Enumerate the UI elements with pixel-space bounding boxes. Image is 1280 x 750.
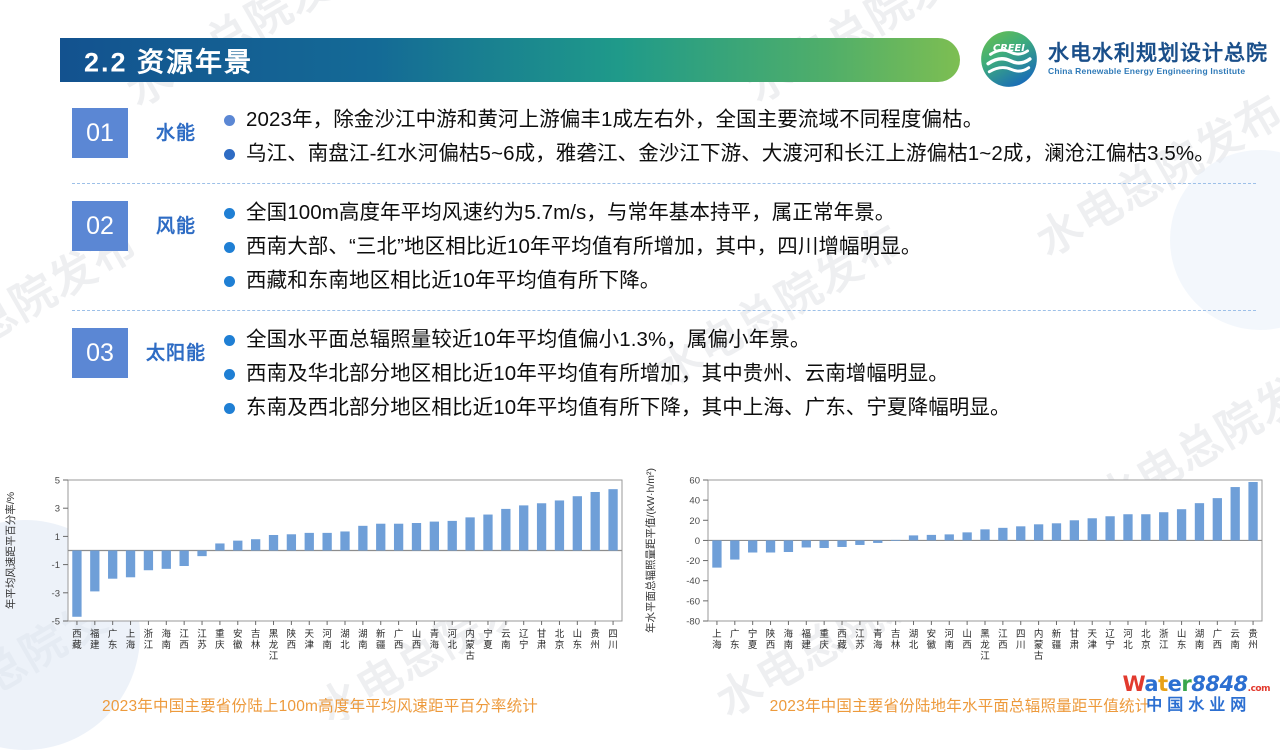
svg-text:蒙: 蒙 bbox=[465, 639, 475, 651]
water8848-subtitle: 中国水业网 bbox=[1122, 698, 1270, 714]
svg-text:江: 江 bbox=[980, 651, 990, 662]
list-item: 全国水平面总辐照量较近10年平均值偏小1.3%，属偏小年景。 bbox=[224, 324, 1256, 356]
svg-text:西: 西 bbox=[962, 640, 972, 651]
svg-text:西: 西 bbox=[766, 640, 776, 651]
svg-text:四: 四 bbox=[1016, 629, 1026, 640]
svg-text:-60: -60 bbox=[686, 596, 700, 607]
svg-text:湖: 湖 bbox=[340, 629, 350, 640]
svg-text:重: 重 bbox=[215, 628, 225, 640]
slide-header: 2.2 资源年景 CREEI 水电水利规划设计总院 China Renewabl… bbox=[0, 0, 1280, 96]
svg-text:5: 5 bbox=[55, 476, 60, 487]
bullet-text: 全国水平面总辐照量较近10年平均值偏小1.3%，属偏小年景。 bbox=[246, 324, 811, 356]
svg-text:西: 西 bbox=[179, 640, 189, 651]
svg-text:甘: 甘 bbox=[537, 628, 547, 640]
svg-text:-20: -20 bbox=[686, 556, 700, 567]
bullet-dot-icon bbox=[224, 369, 235, 380]
section-title: 风能 bbox=[128, 211, 224, 238]
svg-text:云: 云 bbox=[501, 629, 511, 640]
svg-text:津: 津 bbox=[1087, 640, 1097, 651]
svg-text:20: 20 bbox=[689, 516, 700, 527]
svg-text:苏: 苏 bbox=[855, 639, 865, 651]
bullet-text: 西藏和东南地区相比近10年平均值有所下降。 bbox=[246, 265, 660, 297]
svg-text:广: 广 bbox=[730, 628, 740, 640]
brand-letter: W bbox=[1122, 672, 1144, 696]
svg-text:古: 古 bbox=[465, 650, 475, 662]
svg-text:东: 东 bbox=[1177, 639, 1187, 651]
svg-text:西: 西 bbox=[287, 640, 297, 651]
svg-text:南: 南 bbox=[162, 639, 172, 651]
svg-text:南: 南 bbox=[945, 639, 955, 651]
svg-text:广: 广 bbox=[394, 628, 404, 640]
brand-letter: t bbox=[1158, 672, 1168, 696]
svg-text:山: 山 bbox=[962, 629, 972, 640]
bullet-dot-icon bbox=[224, 276, 235, 287]
svg-text:林: 林 bbox=[891, 639, 901, 651]
svg-text:福: 福 bbox=[802, 628, 812, 640]
svg-text:河: 河 bbox=[945, 628, 955, 640]
svg-text:建: 建 bbox=[90, 639, 100, 651]
svg-text:疆: 疆 bbox=[1052, 640, 1062, 651]
svg-text:浙: 浙 bbox=[1159, 628, 1169, 640]
svg-text:北: 北 bbox=[447, 640, 457, 651]
logo-en-name: China Renewable Energy Engineering Insti… bbox=[1048, 66, 1268, 76]
svg-text:吉: 吉 bbox=[251, 629, 261, 640]
svg-text:南: 南 bbox=[1230, 639, 1240, 651]
svg-text:安: 安 bbox=[233, 628, 243, 640]
svg-text:甘: 甘 bbox=[1070, 628, 1080, 640]
list-item: 西藏和东南地区相比近10年平均值有所下降。 bbox=[224, 265, 1256, 297]
svg-text:陕: 陕 bbox=[287, 628, 297, 640]
svg-text:州: 州 bbox=[1248, 640, 1258, 651]
creei-logo: CREEI 水电水利规划设计总院 China Renewable Energy … bbox=[980, 30, 1268, 88]
svg-text:江: 江 bbox=[179, 629, 189, 640]
bullet-text: 东南及西北部分地区相比近10年平均值有所下降，其中上海、广东、宁夏降幅明显。 bbox=[246, 392, 1011, 424]
svg-text:夏: 夏 bbox=[483, 640, 493, 651]
svg-text:庆: 庆 bbox=[215, 639, 225, 651]
svg-text:北: 北 bbox=[1123, 640, 1133, 651]
svg-text:天: 天 bbox=[1087, 629, 1097, 640]
svg-text:上: 上 bbox=[126, 629, 136, 640]
bullet-dot-icon bbox=[224, 115, 235, 126]
svg-text:黑: 黑 bbox=[269, 629, 279, 640]
svg-text:青: 青 bbox=[873, 628, 883, 640]
svg-text:古: 古 bbox=[1034, 650, 1044, 662]
svg-text:湖: 湖 bbox=[909, 629, 919, 640]
svg-text:西: 西 bbox=[1213, 640, 1223, 651]
svg-text:东: 东 bbox=[573, 639, 583, 651]
svg-text:海: 海 bbox=[162, 628, 172, 640]
svg-text:山: 山 bbox=[1177, 629, 1187, 640]
brand-number: 8848 bbox=[1191, 672, 1247, 696]
svg-text:内: 内 bbox=[465, 628, 475, 640]
svg-text:0: 0 bbox=[695, 536, 700, 547]
section-hydro: 01 水能 2023年，除金沙江中游和黄河上游偏丰1成左右外，全国主要流域不同程… bbox=[0, 96, 1280, 178]
section-number-badge: 01 bbox=[72, 108, 128, 158]
section-bullet-list: 全国水平面总辐照量较近10年平均值偏小1.3%，属偏小年景。 西南及华北部分地区… bbox=[224, 322, 1256, 426]
section-solar: 03 太阳能 全国水平面总辐照量较近10年平均值偏小1.3%，属偏小年景。 西南… bbox=[0, 316, 1280, 432]
svg-text:辽: 辽 bbox=[1105, 628, 1115, 640]
brand-letter: a bbox=[1144, 672, 1158, 696]
svg-text:-40: -40 bbox=[686, 576, 700, 587]
svg-text:州: 州 bbox=[590, 640, 600, 651]
list-item: 全国100m高度年平均风速约为5.7m/s，与常年基本持平，属正常年景。 bbox=[224, 197, 1256, 229]
svg-text:京: 京 bbox=[555, 639, 565, 651]
chart-canvas: 531-1-3-5西藏福建广东上海浙江海南江西江苏重庆安徽吉林黑龙江陕西天津河南… bbox=[0, 468, 640, 683]
svg-text:3: 3 bbox=[55, 504, 60, 515]
svg-text:河: 河 bbox=[322, 628, 332, 640]
svg-text:上: 上 bbox=[712, 629, 722, 640]
svg-text:重: 重 bbox=[819, 628, 829, 640]
svg-text:南: 南 bbox=[322, 639, 332, 651]
list-item: 西南及华北部分地区相比近10年平均值有所增加，其中贵州、云南增幅明显。 bbox=[224, 358, 1256, 390]
charts-row: 531-1-3-5西藏福建广东上海浙江海南江西江苏重庆安徽吉林黑龙江陕西天津河南… bbox=[0, 468, 1280, 720]
bullet-dot-icon bbox=[224, 242, 235, 253]
svg-text:夏: 夏 bbox=[748, 640, 758, 651]
svg-text:海: 海 bbox=[784, 628, 794, 640]
svg-text:海: 海 bbox=[430, 639, 440, 651]
svg-text:青: 青 bbox=[430, 628, 440, 640]
brand-letter: r bbox=[1181, 672, 1191, 696]
svg-text:江: 江 bbox=[269, 651, 279, 662]
svg-text:河: 河 bbox=[447, 628, 457, 640]
brand-letter: e bbox=[1168, 672, 1182, 696]
svg-text:天: 天 bbox=[305, 629, 315, 640]
svg-text:南: 南 bbox=[501, 639, 511, 651]
svg-text:江: 江 bbox=[197, 629, 207, 640]
svg-text:龙: 龙 bbox=[980, 639, 990, 651]
list-item: 乌江、南盘江-红水河偏枯5~6成，雅砻江、金沙江下游、大渡河和长江上游偏枯1~2… bbox=[224, 138, 1256, 170]
bullet-text: 2023年，除金沙江中游和黄河上游偏丰1成左右外，全国主要流域不同程度偏枯。 bbox=[246, 104, 983, 136]
content-sections: 01 水能 2023年，除金沙江中游和黄河上游偏丰1成左右外，全国主要流域不同程… bbox=[0, 96, 1280, 432]
svg-text:年平均风速距平百分率/%: 年平均风速距平百分率/% bbox=[4, 492, 17, 609]
bar-chart-svg: 531-1-3-5西藏福建广东上海浙江海南江西江苏重庆安徽吉林黑龙江陕西天津河南… bbox=[0, 468, 640, 683]
svg-text:海: 海 bbox=[712, 639, 722, 651]
section-bullet-list: 全国100m高度年平均风速约为5.7m/s，与常年基本持平，属正常年景。 西南大… bbox=[224, 195, 1256, 299]
section-title: 水能 bbox=[128, 118, 224, 145]
svg-text:北: 北 bbox=[340, 640, 350, 651]
svg-text:津: 津 bbox=[305, 640, 315, 651]
svg-text:建: 建 bbox=[802, 639, 812, 651]
svg-text:河: 河 bbox=[1123, 628, 1133, 640]
svg-text:1: 1 bbox=[55, 532, 60, 543]
list-item: 东南及西北部分地区相比近10年平均值有所下降，其中上海、广东、宁夏降幅明显。 bbox=[224, 392, 1256, 424]
water8848-watermark: Water8848.com 中国水业网 bbox=[1122, 674, 1270, 714]
svg-text:浙: 浙 bbox=[144, 628, 154, 640]
svg-text:徽: 徽 bbox=[927, 639, 937, 651]
svg-text:江: 江 bbox=[998, 629, 1008, 640]
svg-text:宁: 宁 bbox=[1105, 639, 1115, 651]
page-title: 2.2 资源年景 bbox=[84, 41, 253, 80]
svg-text:安: 安 bbox=[927, 628, 937, 640]
bullet-dot-icon bbox=[224, 149, 235, 160]
svg-text:东: 东 bbox=[108, 639, 118, 651]
svg-text:南: 南 bbox=[784, 639, 794, 651]
chart-canvas: 6040200-20-40-60-80上海广东宁夏陕西海南福建重庆西藏江苏青海吉… bbox=[640, 468, 1280, 683]
svg-text:西: 西 bbox=[394, 640, 404, 651]
svg-text:庆: 庆 bbox=[819, 639, 829, 651]
svg-text:湖: 湖 bbox=[1195, 629, 1205, 640]
bullet-dot-icon bbox=[224, 403, 235, 414]
svg-text:内: 内 bbox=[1034, 628, 1044, 640]
svg-text:龙: 龙 bbox=[269, 639, 279, 651]
bullet-dot-icon bbox=[224, 335, 235, 346]
svg-text:川: 川 bbox=[608, 640, 618, 651]
section-title: 太阳能 bbox=[128, 338, 224, 365]
list-item: 西南大部、“三北”地区相比近10年平均值有所增加，其中，四川增幅明显。 bbox=[224, 231, 1256, 263]
svg-text:福: 福 bbox=[90, 628, 100, 640]
svg-text:肃: 肃 bbox=[1070, 639, 1080, 651]
svg-text:辽: 辽 bbox=[519, 628, 529, 640]
svg-text:南: 南 bbox=[358, 639, 368, 651]
svg-text:川: 川 bbox=[1016, 640, 1026, 651]
svg-text:陕: 陕 bbox=[766, 628, 776, 640]
svg-text:徽: 徽 bbox=[233, 639, 243, 651]
svg-text:疆: 疆 bbox=[376, 640, 386, 651]
svg-text:黑: 黑 bbox=[980, 629, 990, 640]
svg-text:南: 南 bbox=[1195, 639, 1205, 651]
logo-cn-name: 水电水利规划设计总院 bbox=[1048, 42, 1268, 66]
svg-text:广: 广 bbox=[1213, 628, 1223, 640]
water8848-brand: Water8848.com bbox=[1122, 674, 1270, 695]
svg-text:京: 京 bbox=[1141, 639, 1151, 651]
svg-text:CREEI: CREEI bbox=[993, 43, 1025, 54]
svg-text:-5: -5 bbox=[52, 617, 60, 628]
svg-text:新: 新 bbox=[376, 628, 386, 640]
section-wind: 02 风能 全国100m高度年平均风速约为5.7m/s，与常年基本持平，属正常年… bbox=[0, 189, 1280, 305]
svg-text:宁: 宁 bbox=[748, 628, 758, 640]
svg-text:云: 云 bbox=[1230, 629, 1240, 640]
svg-text:山: 山 bbox=[573, 629, 583, 640]
title-bar: 2.2 资源年景 bbox=[60, 38, 960, 82]
svg-text:肃: 肃 bbox=[537, 639, 547, 651]
svg-text:40: 40 bbox=[689, 496, 700, 507]
svg-text:苏: 苏 bbox=[197, 639, 207, 651]
chart-wind-speed-anomaly: 531-1-3-5西藏福建广东上海浙江海南江西江苏重庆安徽吉林黑龙江陕西天津河南… bbox=[0, 468, 640, 720]
section-bullet-list: 2023年，除金沙江中游和黄河上游偏丰1成左右外，全国主要流域不同程度偏枯。 乌… bbox=[224, 102, 1256, 172]
svg-text:宁: 宁 bbox=[483, 628, 493, 640]
svg-text:蒙: 蒙 bbox=[1034, 639, 1044, 651]
bar-chart-svg: 6040200-20-40-60-80上海广东宁夏陕西海南福建重庆西藏江苏青海吉… bbox=[640, 468, 1280, 683]
svg-text:年水平面总辐照量距平值/(kW·h/m²): 年水平面总辐照量距平值/(kW·h/m²) bbox=[644, 468, 657, 633]
section-number-badge: 03 bbox=[72, 328, 128, 378]
brand-domain: .com bbox=[1248, 684, 1270, 694]
svg-text:江: 江 bbox=[144, 640, 154, 651]
svg-text:西: 西 bbox=[837, 629, 847, 640]
svg-text:北: 北 bbox=[1141, 629, 1151, 640]
bullet-text: 全国100m高度年平均风速约为5.7m/s，与常年基本持平，属正常年景。 bbox=[246, 197, 895, 229]
svg-text:藏: 藏 bbox=[837, 639, 847, 651]
section-number-badge: 02 bbox=[72, 201, 128, 251]
list-item: 2023年，除金沙江中游和黄河上游偏丰1成左右外，全国主要流域不同程度偏枯。 bbox=[224, 104, 1256, 136]
svg-text:西: 西 bbox=[998, 640, 1008, 651]
svg-text:江: 江 bbox=[855, 629, 865, 640]
svg-text:四: 四 bbox=[608, 629, 618, 640]
svg-text:西: 西 bbox=[412, 640, 422, 651]
svg-text:贵: 贵 bbox=[1248, 628, 1258, 640]
svg-text:宁: 宁 bbox=[519, 639, 529, 651]
svg-text:西: 西 bbox=[72, 629, 82, 640]
section-divider bbox=[72, 183, 1256, 184]
svg-text:新: 新 bbox=[1052, 628, 1062, 640]
svg-text:北: 北 bbox=[555, 629, 565, 640]
bullet-text: 西南及华北部分地区相比近10年平均值有所增加，其中贵州、云南增幅明显。 bbox=[246, 358, 949, 390]
svg-text:湖: 湖 bbox=[358, 629, 368, 640]
svg-text:东: 东 bbox=[730, 639, 740, 651]
bullet-dot-icon bbox=[224, 208, 235, 219]
svg-text:广: 广 bbox=[108, 628, 118, 640]
svg-text:-3: -3 bbox=[52, 588, 60, 599]
svg-text:海: 海 bbox=[126, 639, 136, 651]
bullet-text: 西南大部、“三北”地区相比近10年平均值有所增加，其中，四川增幅明显。 bbox=[246, 231, 921, 263]
svg-text:60: 60 bbox=[689, 476, 700, 487]
chart-caption: 2023年中国主要省份陆上100m高度年平均风速距平百分率统计 bbox=[0, 694, 640, 716]
svg-text:-1: -1 bbox=[52, 560, 60, 571]
svg-text:林: 林 bbox=[251, 639, 261, 651]
svg-text:山: 山 bbox=[412, 629, 422, 640]
svg-text:江: 江 bbox=[1159, 640, 1169, 651]
svg-text:吉: 吉 bbox=[891, 629, 901, 640]
svg-text:贵: 贵 bbox=[590, 628, 600, 640]
svg-text:藏: 藏 bbox=[72, 639, 82, 651]
svg-text:北: 北 bbox=[909, 640, 919, 651]
svg-text:海: 海 bbox=[873, 639, 883, 651]
section-divider bbox=[72, 310, 1256, 311]
svg-text:-80: -80 bbox=[686, 617, 700, 628]
creei-emblem-icon: CREEI bbox=[980, 30, 1038, 88]
bullet-text: 乌江、南盘江-红水河偏枯5~6成，雅砻江、金沙江下游、大渡河和长江上游偏枯1~2… bbox=[246, 138, 1215, 170]
